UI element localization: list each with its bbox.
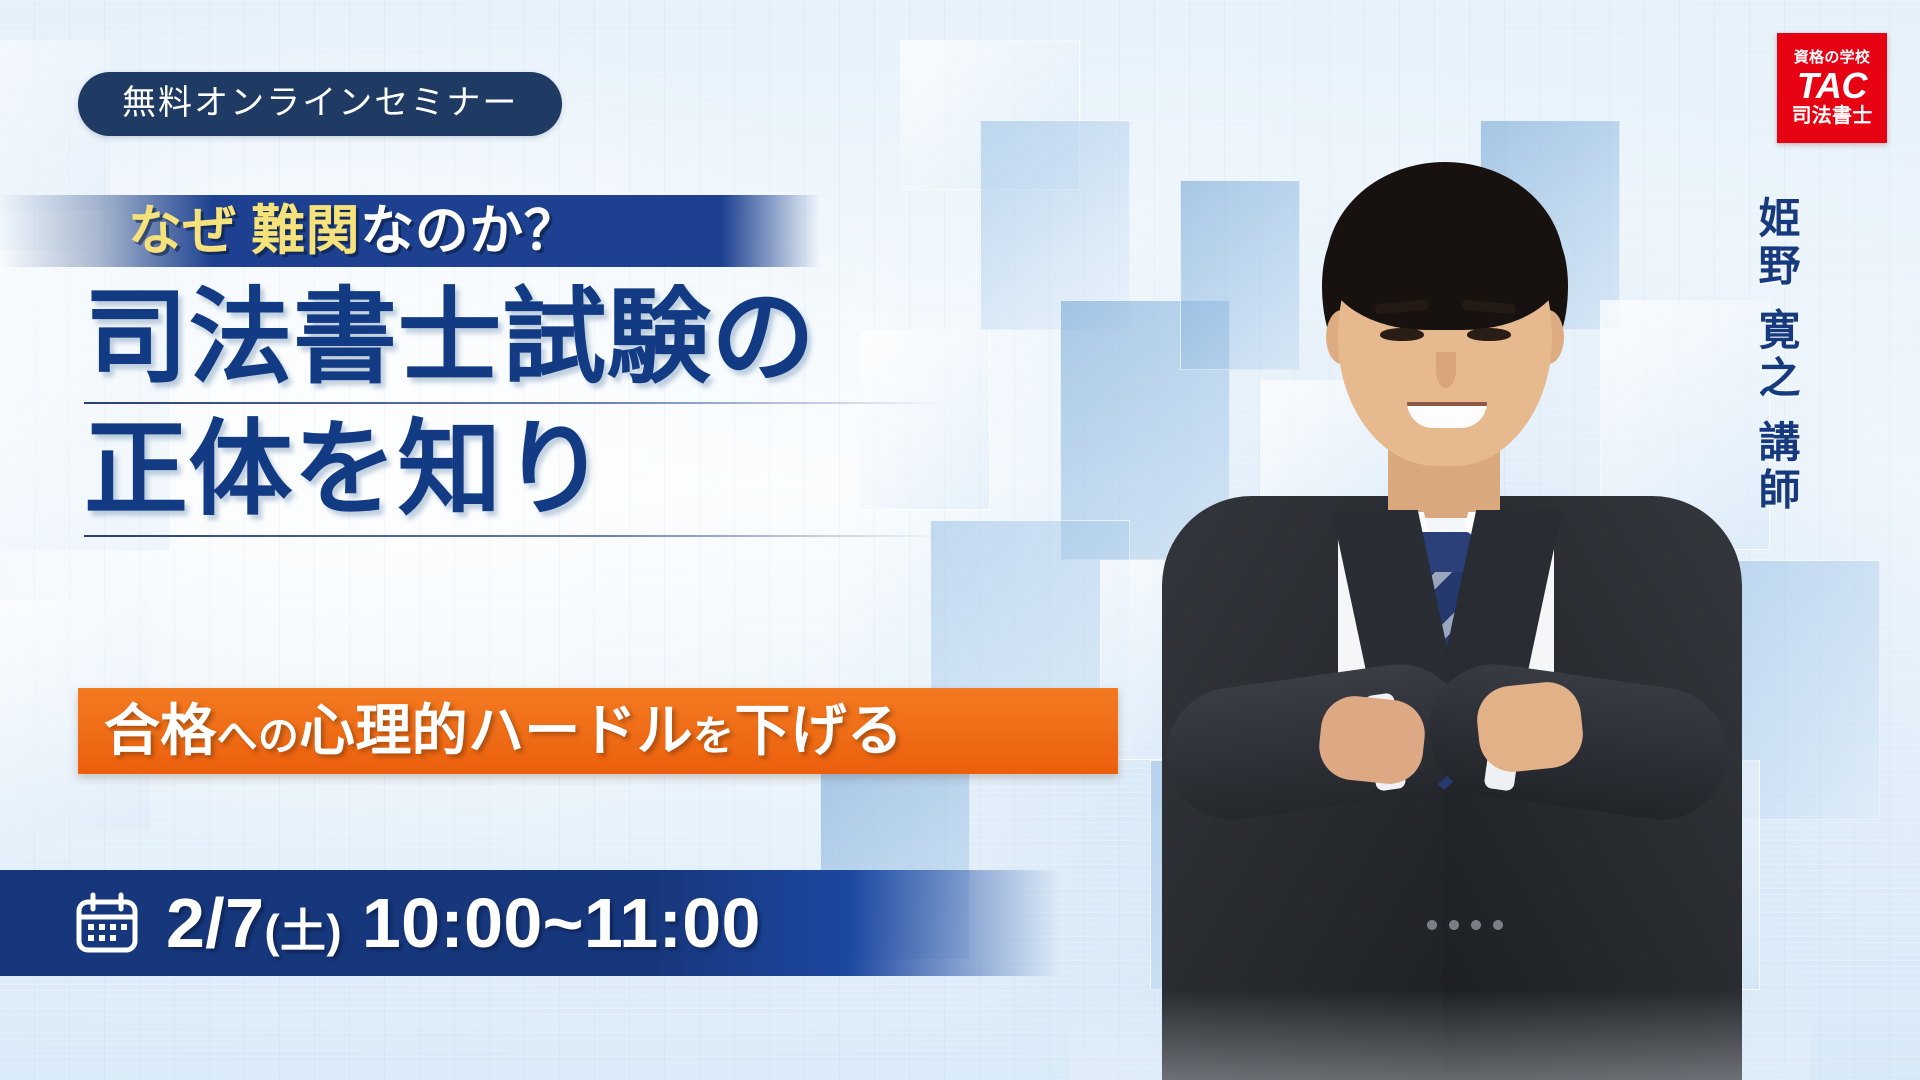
lecturer-name: 姫野 寛之 講師 [1750,196,1803,515]
tac-logo: 資格の学校 TAC 司法書士 [1777,33,1887,143]
highlight-part-eno: への [217,713,300,759]
headline-divider-1 [84,402,944,404]
headline-line-2: 正体を知り [84,412,944,528]
subheadline-text: なぜ難関なのか？ [128,204,578,258]
schedule-day-of-week: (土) [264,905,342,957]
highlight-part-hurdle: 心理的ハードル [299,699,693,762]
schedule-bar: 2/7(土) 10:00~11:00 [0,870,1060,976]
calendar-icon [74,890,140,956]
highlight-strip: 合格への心理的ハードルを下げる [78,688,1118,774]
schedule-time: 10:00~11:00 [362,884,761,962]
headline: 司法書士試験の 正体を知り [84,280,944,545]
logo-subject: 司法書士 [1792,106,1873,126]
subheadline-part-nankan: 難関 [251,201,360,261]
subheadline-band: なぜ難関なのか？ [0,195,820,267]
subheadline-part-nanoka: なのか？ [360,201,578,261]
seminar-banner: 資格の学校 TAC 司法書士 姫野 寛之 講師 無料オンラインセミナー なぜ難関… [0,0,1920,1080]
schedule-text: 2/7(土) 10:00~11:00 [166,888,761,958]
headline-divider-2 [84,535,944,537]
logo-tagline: 資格の学校 [1794,50,1871,65]
schedule-date: 2/7 [166,884,264,962]
presenter-photo [1070,80,1810,1080]
headline-line-1: 司法書士試験の [84,280,944,396]
free-seminar-badge: 無料オンラインセミナー [78,72,562,136]
highlight-part-goukaku: 合格 [104,699,217,762]
highlight-part-sageru: 下げる [734,699,903,762]
highlight-text: 合格への心理的ハードルを下げる [104,703,903,759]
logo-brand: TAC [1797,68,1867,104]
subheadline-part-naze: なぜ [128,201,237,261]
highlight-part-wo: を [693,713,734,759]
